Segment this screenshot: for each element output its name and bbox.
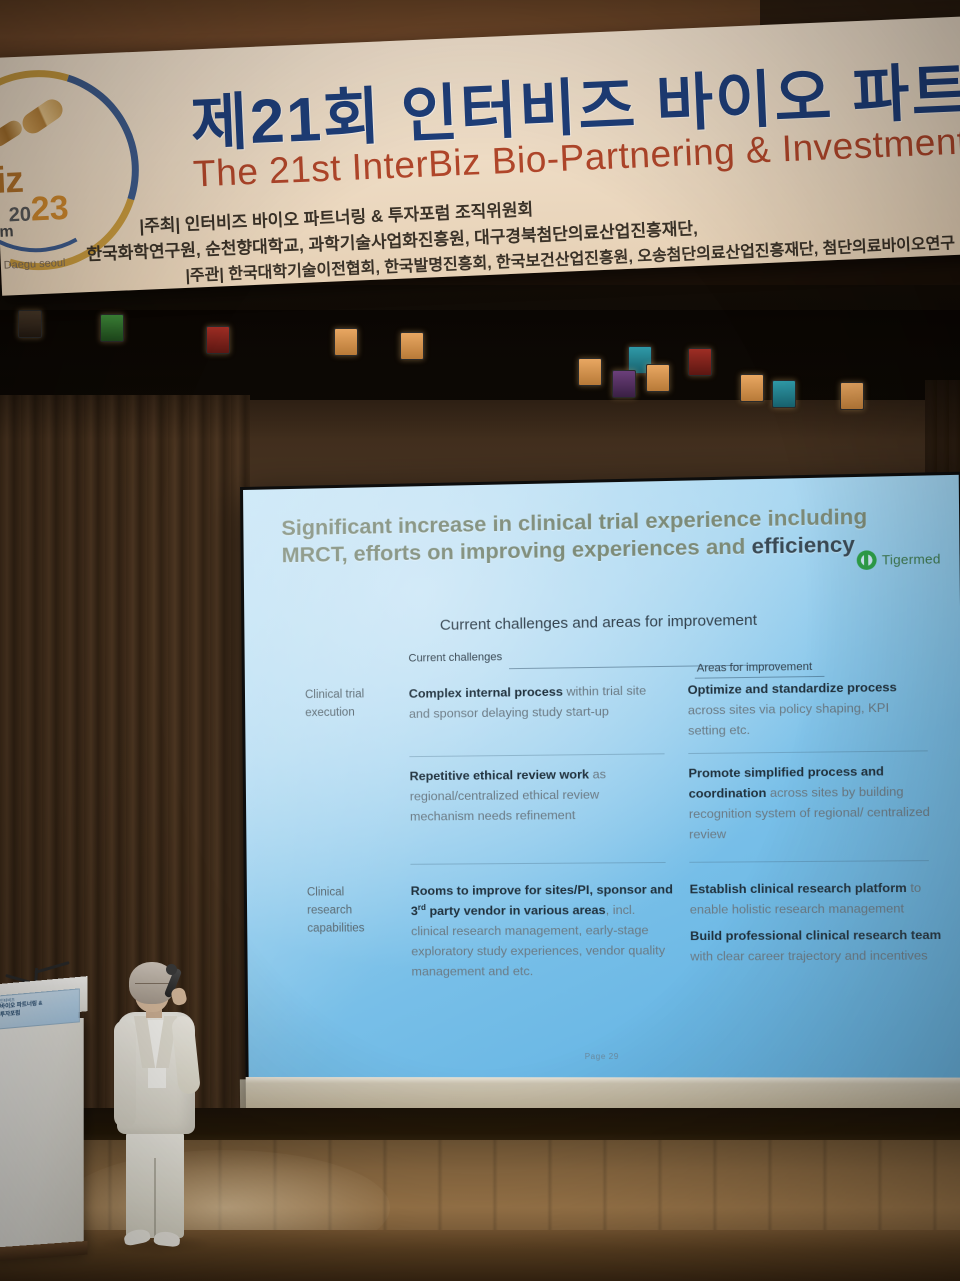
stage-light-icon xyxy=(646,364,670,392)
stage-light-icon xyxy=(100,314,124,342)
stage-light-icon xyxy=(840,382,864,410)
cell-improvement-row3a: Establish clinical research platform to … xyxy=(690,877,943,920)
speaker-leg-seam xyxy=(154,1158,156,1238)
row-divider-1-left xyxy=(409,753,664,757)
column-header-challenges: Current challenges xyxy=(408,651,502,664)
column-header-improvements: Areas for improvement xyxy=(697,661,813,675)
stage-light-icon xyxy=(772,380,796,408)
stage-light-rig xyxy=(0,300,960,410)
logo-year-prefix: 20 xyxy=(8,203,31,226)
tigermed-logo-text: Tigermed xyxy=(882,551,941,567)
cell-improvement-row1: Optimize and standardize process across … xyxy=(688,676,930,741)
cell-improvement-row2: Promote simplified process and coordinat… xyxy=(688,761,937,845)
slide-page-number: Page 29 xyxy=(248,1052,960,1061)
row-divider-2-right xyxy=(689,860,929,863)
glasses-icon xyxy=(135,983,169,992)
stage-light-icon xyxy=(206,326,230,354)
stage-light-icon xyxy=(740,374,764,402)
logo-korean-caption: 대한민국 대구 Daegu seoul xyxy=(0,257,66,276)
row-label-clinical-research-capabilities: Clinical research capabilities xyxy=(307,884,393,938)
cell-improvement-row3b: Build professional clinical research tea… xyxy=(690,925,943,967)
cell-challenge-row2: Repetitive ethical review work as region… xyxy=(409,764,624,827)
microphone-head-icon xyxy=(166,964,177,975)
cell-challenge-row1: Complex internal process within trial si… xyxy=(409,680,670,724)
slide-subtitle: Current challenges and areas for improve… xyxy=(244,608,960,637)
row-divider-1-right xyxy=(688,750,927,754)
slide-title: Significant increase in clinical trial e… xyxy=(281,503,870,568)
speaker-arm-left xyxy=(114,1020,136,1128)
presentation-slide: Significant increase in clinical trial e… xyxy=(243,475,960,1078)
speaker-person xyxy=(96,962,216,1252)
projection-screen: Significant increase in clinical trial e… xyxy=(240,472,960,1114)
stage-light-icon xyxy=(334,328,358,356)
logo-year: 2023 xyxy=(8,189,70,231)
stage-light-icon xyxy=(612,370,636,398)
stage-light-icon xyxy=(400,332,424,360)
stage-light-icon xyxy=(688,348,712,376)
podium xyxy=(0,1018,84,1258)
conference-photo-scene: erBiz nering & ent Forum 2023 대한민국 대구 Da… xyxy=(0,0,960,1281)
row-label-clinical-trial-execution: Clinical trial execution xyxy=(305,686,391,723)
tigermed-mark-icon xyxy=(857,550,877,570)
stage-light-icon xyxy=(578,358,602,386)
speaker-hand xyxy=(170,987,188,1007)
event-banner: erBiz nering & ent Forum 2023 대한민국 대구 Da… xyxy=(0,16,960,296)
logo-year-suffix: 23 xyxy=(30,189,69,229)
cell-challenge-row3: Rooms to improve for sites/PI, sponsor a… xyxy=(411,879,675,982)
slide-title-emphasis: efficiency xyxy=(751,532,854,558)
stage-light-icon xyxy=(18,310,42,338)
row-divider-2-left xyxy=(410,862,665,865)
tigermed-logo: Tigermed xyxy=(857,549,941,570)
